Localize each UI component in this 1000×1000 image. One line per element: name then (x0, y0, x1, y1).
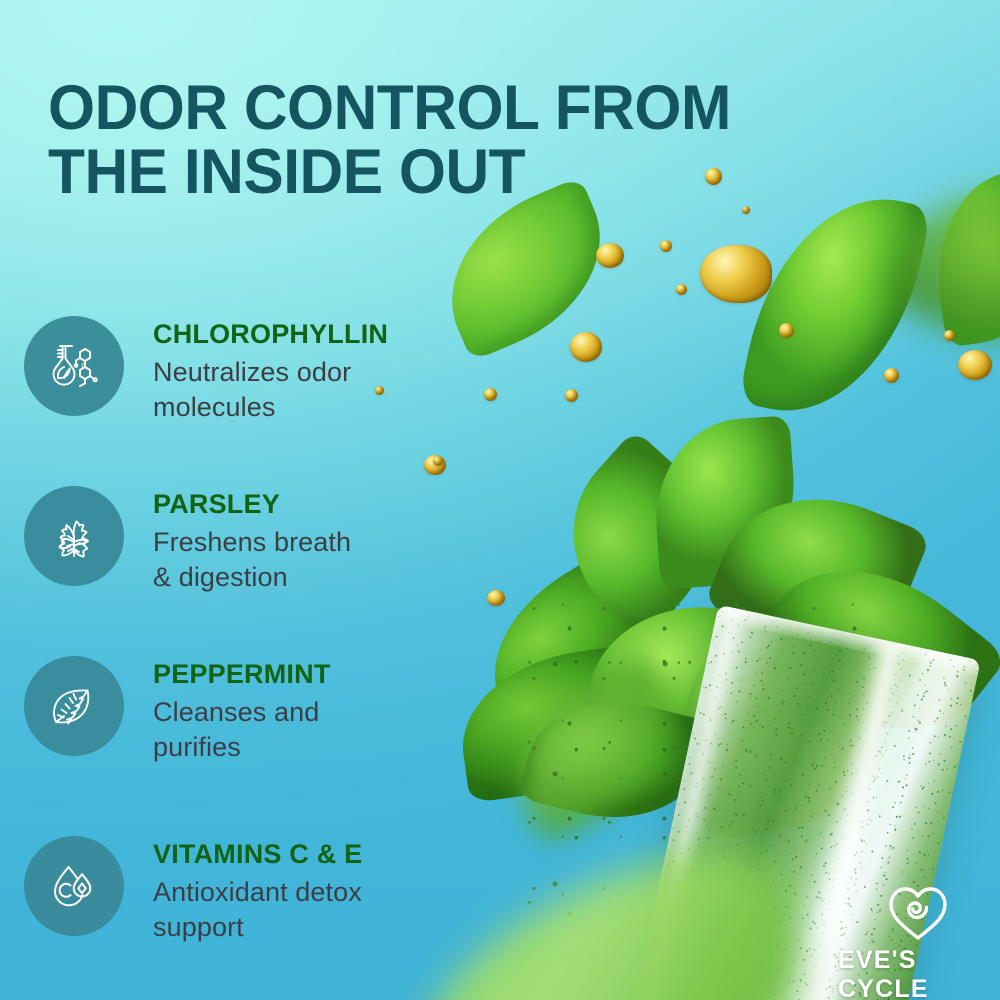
feature-text: PARSLEY Freshens breath & digestion (153, 486, 351, 596)
feature-text: CHLOROPHYLLIN Neutralizes odor molecules (153, 316, 388, 426)
feature-item-chlorophyllin: C CHLOROPHYLLIN Neutralizes odor molecul… (24, 316, 464, 426)
brand-logo: EVE'S CYCLE (838, 884, 998, 1000)
feature-text: PEPPERMINT Cleanses and purifies (153, 656, 331, 766)
feature-item-peppermint: PEPPERMINT Cleanses and purifies (24, 656, 464, 766)
brand-name: EVE'S CYCLE (838, 946, 998, 1000)
flask-leaf-molecule-icon: C (24, 316, 124, 416)
svg-text:C: C (81, 363, 86, 370)
feature-item-parsley: PARSLEY Freshens breath & digestion (24, 486, 464, 596)
feature-title: PEPPERMINT (153, 660, 331, 690)
feature-title: PARSLEY (153, 490, 351, 520)
feature-description: Neutralizes odor molecules (153, 355, 388, 426)
feature-title: VITAMINS C & E (153, 840, 362, 870)
water-droplet-c-icon (24, 836, 124, 936)
heart-spiral-logo-icon (885, 884, 951, 942)
feature-description: Antioxidant detox support (153, 875, 362, 946)
ingredient-feature-list: C CHLOROPHYLLIN Neutralizes odor molecul… (0, 0, 470, 1000)
feature-item-vitamins: VITAMINS C & E Antioxidant detox support (24, 836, 464, 946)
feature-title: CHLOROPHYLLIN (153, 320, 388, 350)
feature-description: Cleanses and purifies (153, 695, 331, 766)
mint-leaf-icon (24, 656, 124, 756)
product-banner: ODOR CONTROL FROM THE INSIDE OUT (0, 0, 1000, 1000)
feature-description: Freshens breath & digestion (153, 525, 351, 596)
feature-text: VITAMINS C & E Antioxidant detox support (153, 836, 362, 946)
parsley-leaf-icon (24, 486, 124, 586)
